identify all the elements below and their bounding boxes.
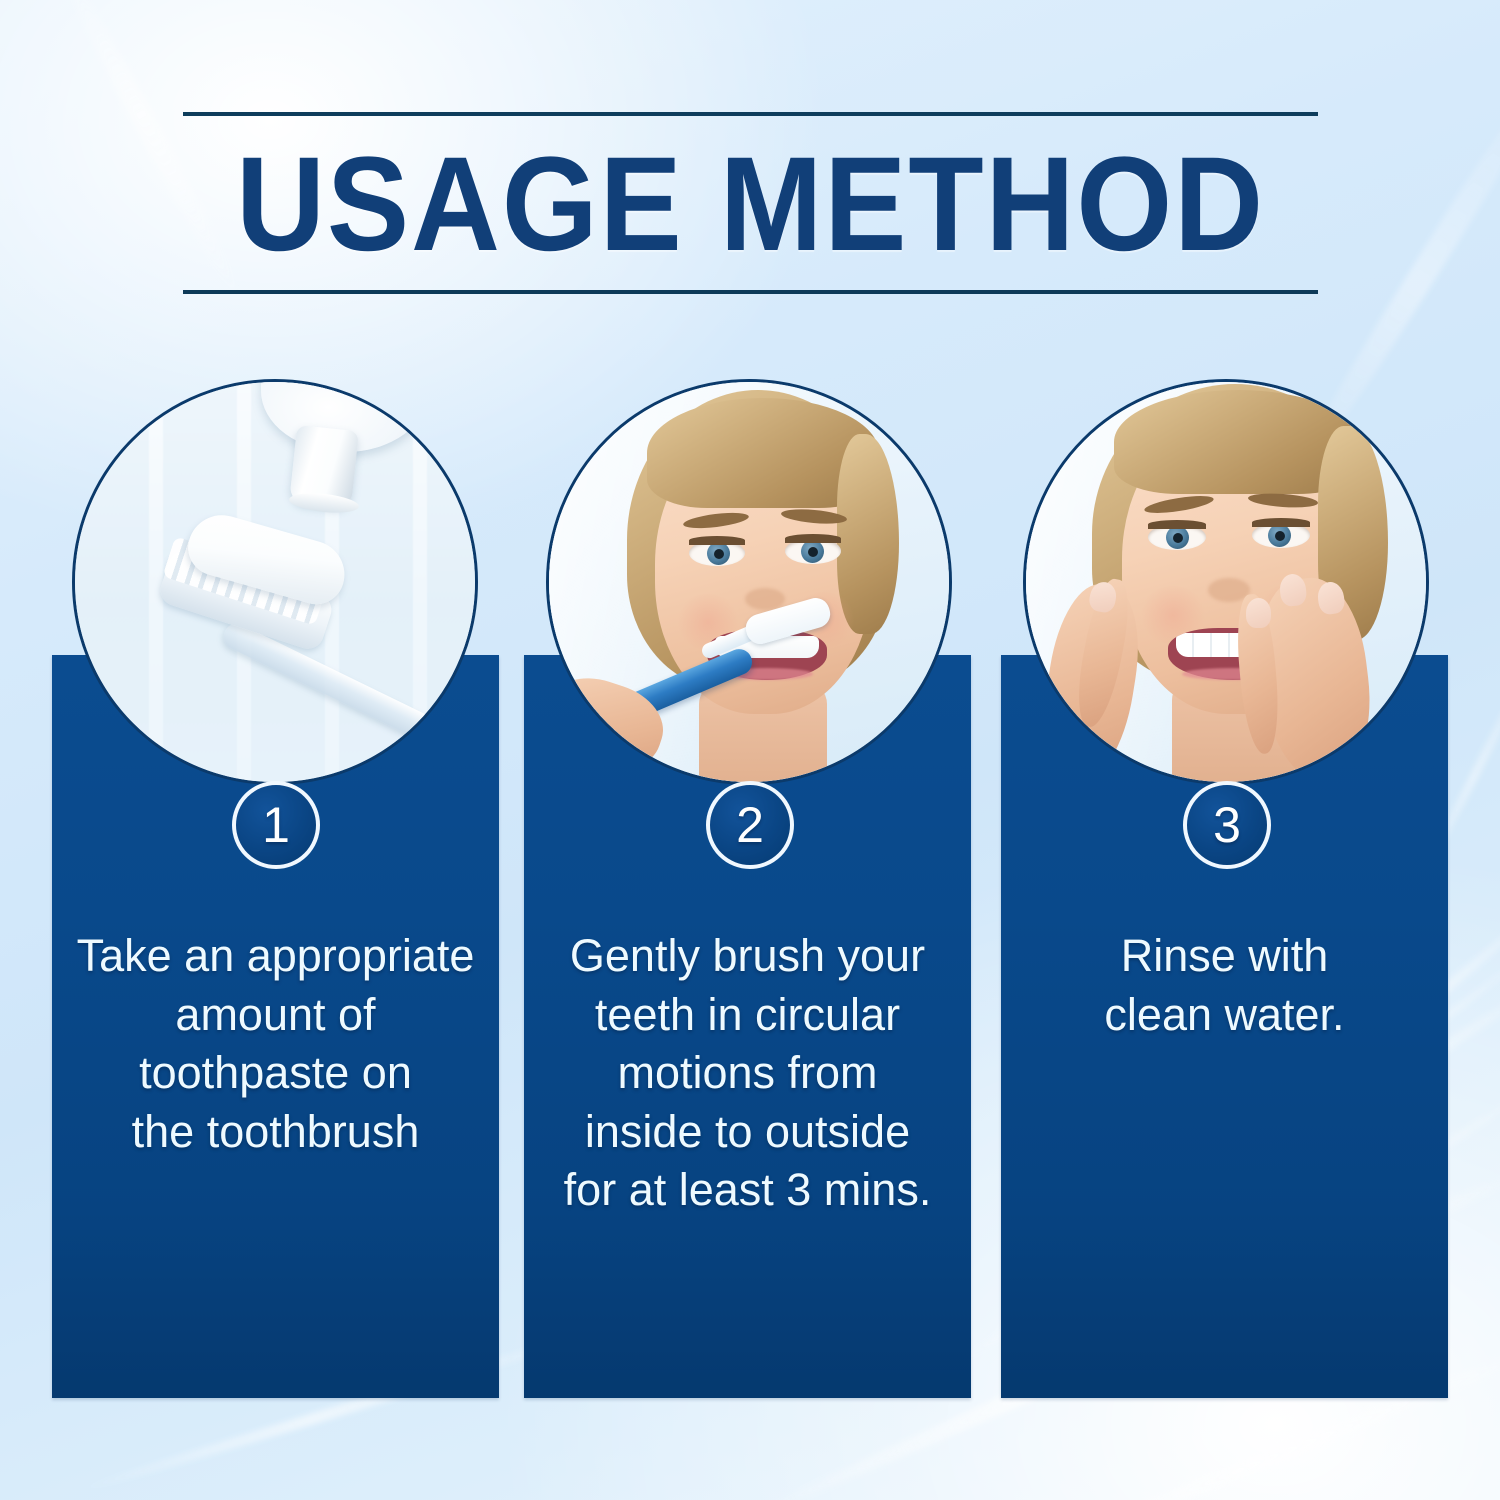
- step-cards: Take an appropriate amount of toothpaste…: [0, 0, 1500, 1500]
- usage-method-infographic: USAGE METHOD Take an appropriate amount …: [0, 0, 1500, 1500]
- eyelid-left: [689, 536, 745, 545]
- eyelid-left: [1148, 520, 1206, 529]
- pupil-right: [808, 547, 818, 557]
- fingernail-right-1: [1246, 598, 1271, 628]
- eyelid-right: [785, 534, 841, 543]
- step-1-description: Take an appropriate amount of toothpaste…: [66, 927, 485, 1161]
- pupil-right: [1275, 531, 1285, 541]
- pupil-left: [1173, 533, 1183, 543]
- woman-touching-face-photo: [1023, 379, 1429, 785]
- step-number-badge-1: 1: [232, 781, 320, 869]
- woman-brushing-teeth-photo: [546, 379, 952, 785]
- step-3-description: Rinse with clean water.: [1015, 927, 1434, 1044]
- nose: [745, 588, 785, 610]
- pupil-left: [714, 549, 724, 559]
- step-number-badge-3: 3: [1183, 781, 1271, 869]
- toothpaste-on-toothbrush-photo: [72, 379, 478, 785]
- step-number-badge-2: 2: [706, 781, 794, 869]
- step-2-description: Gently brush your teeth in circular moti…: [538, 927, 957, 1220]
- eyelid-right: [1252, 518, 1310, 527]
